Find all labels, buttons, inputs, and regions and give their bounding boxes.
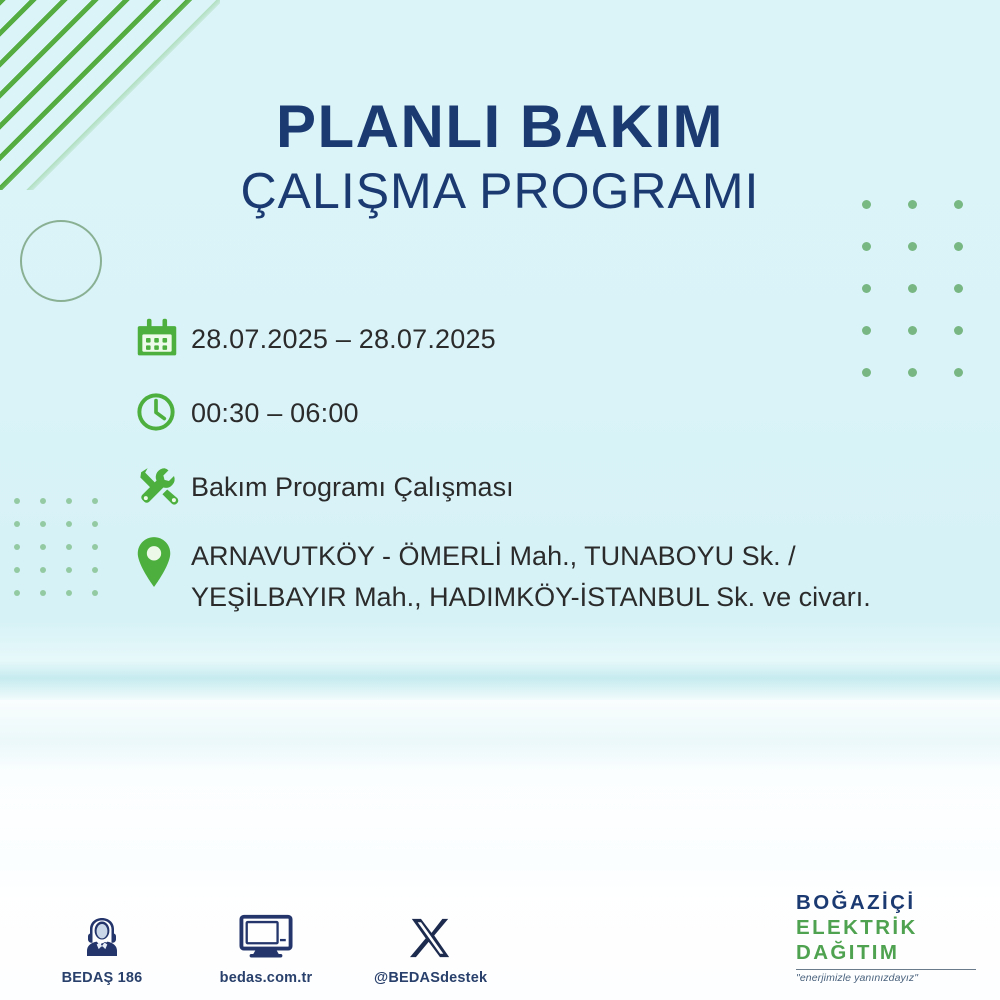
contact-website-label: bedas.com.tr	[210, 970, 322, 986]
location-value: ARNAVUTKÖY - ÖMERLİ Mah., TUNABOYU Sk. /…	[191, 534, 871, 617]
logo-divider	[796, 969, 976, 970]
monitor-icon	[210, 905, 322, 961]
tools-icon	[135, 460, 191, 512]
contact-website[interactable]: bedas.com.tr	[210, 905, 322, 986]
company-logo-line3: DAĞITIM	[796, 940, 976, 965]
poster-footer: BEDAŞ 186 bedas.com.tr	[0, 860, 1000, 1000]
poster-header: PLANLI BAKIM ÇALIŞMA PROGRAMI	[0, 96, 1000, 221]
company-logo-line2: ELEKTRİK	[796, 915, 976, 940]
company-tagline: "enerjimizle yanınızdayız"	[796, 972, 976, 984]
clock-icon	[135, 386, 191, 438]
location-pin-icon	[135, 534, 191, 596]
page-title: PLANLI BAKIM	[0, 96, 1000, 157]
wave-band-decoration	[0, 700, 1000, 770]
company-logo: BOĞAZİÇİ ELEKTRİK DAĞITIM "enerjimizle y…	[796, 890, 976, 984]
detail-row-date: 28.07.2025 – 28.07.2025	[135, 312, 965, 364]
x-social-icon	[374, 905, 486, 961]
call-center-agent-icon	[46, 905, 158, 961]
contact-social[interactable]: @BEDASdestek	[374, 905, 486, 986]
circle-outline-decoration	[20, 220, 102, 302]
contact-channels: BEDAŞ 186 bedas.com.tr	[46, 905, 486, 986]
detail-row-location: ARNAVUTKÖY - ÖMERLİ Mah., TUNABOYU Sk. /…	[135, 534, 965, 617]
detail-row-work-type: Bakım Programı Çalışması	[135, 460, 965, 512]
work-type-value: Bakım Programı Çalışması	[191, 460, 514, 506]
dot-grid-left-decoration	[14, 498, 118, 613]
contact-phone-label: BEDAŞ 186	[46, 970, 158, 986]
contact-social-label: @BEDASdestek	[374, 970, 486, 986]
wave-band-decoration	[0, 660, 1000, 700]
detail-row-time: 00:30 – 06:00	[135, 386, 965, 438]
date-range-value: 28.07.2025 – 28.07.2025	[191, 312, 496, 358]
time-range-value: 00:30 – 06:00	[191, 386, 359, 432]
company-logo-line1: BOĞAZİÇİ	[796, 890, 976, 915]
page-subtitle: ÇALIŞMA PROGRAMI	[0, 163, 1000, 221]
calendar-icon	[135, 312, 191, 364]
contact-phone[interactable]: BEDAŞ 186	[46, 905, 158, 986]
planned-maintenance-poster: PLANLI BAKIM ÇALIŞMA PROGRAMI	[0, 0, 1000, 1000]
maintenance-details: 28.07.2025 – 28.07.2025 00:30 – 06:00	[135, 312, 965, 617]
